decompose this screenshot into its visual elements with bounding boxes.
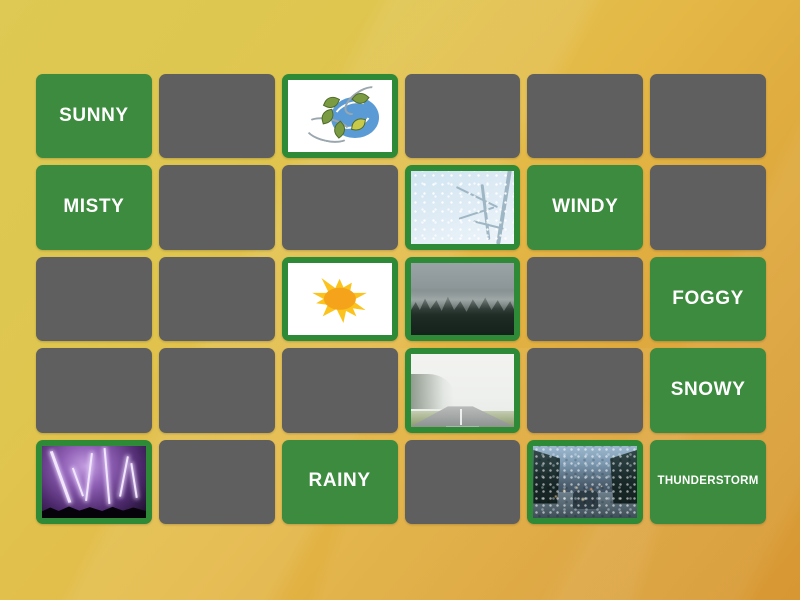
misty-forest-photo (411, 263, 515, 335)
wind-clipart (288, 80, 392, 152)
treeline (411, 374, 455, 409)
tile-image-windy-clipart[interactable] (282, 74, 398, 158)
tile-hidden-r1c4[interactable] (405, 74, 521, 158)
snowflakes (411, 171, 515, 243)
tile-label: RAINY (309, 471, 371, 492)
tile-hidden-r2c3[interactable] (282, 165, 398, 249)
tile-image-foggy-photo[interactable] (405, 348, 521, 432)
tile-label: SNOWY (671, 380, 746, 401)
lightning-bolt (85, 453, 93, 501)
tile-word-thunderstorm[interactable]: THUNDERSTORM (650, 440, 766, 524)
tile-hidden-r1c5[interactable] (527, 74, 643, 158)
tile-word-snowy[interactable]: SNOWY (650, 348, 766, 432)
tile-word-windy[interactable]: WINDY (527, 165, 643, 249)
snow-photo (411, 171, 515, 243)
rainy-street-photo (533, 446, 637, 518)
tile-image-thunderstorm-photo[interactable] (36, 440, 152, 524)
tile-hidden-r3c2[interactable] (159, 257, 275, 341)
tile-image-rainy-photo[interactable] (527, 440, 643, 524)
horizon-silhouette (42, 502, 146, 518)
tile-word-foggy[interactable]: FOGGY (650, 257, 766, 341)
lightning-bolt (104, 449, 111, 505)
tile-hidden-r2c2[interactable] (159, 165, 275, 249)
tile-label: SUNNY (59, 106, 129, 127)
tile-hidden-r4c5[interactable] (527, 348, 643, 432)
tile-label: FOGGY (672, 289, 744, 310)
tile-image-misty-photo[interactable] (405, 257, 521, 341)
lightning-bolt (119, 456, 129, 496)
tile-hidden-r4c2[interactable] (159, 348, 275, 432)
tile-hidden-r1c6[interactable] (650, 74, 766, 158)
raindrops (533, 446, 637, 518)
tile-hidden-r5c4[interactable] (405, 440, 521, 524)
tile-hidden-r3c5[interactable] (527, 257, 643, 341)
sun-clipart (288, 263, 392, 335)
tile-label: WINDY (552, 197, 618, 218)
tile-label: MISTY (63, 197, 124, 218)
lightning-bolt (131, 463, 138, 498)
tile-word-rainy[interactable]: RAINY (282, 440, 398, 524)
tile-grid: SUNNYMISTYWINDYFOGGYSNOWYRAINYTHUNDERSTO… (36, 74, 766, 524)
tile-hidden-r4c1[interactable] (36, 348, 152, 432)
tile-image-sunny-clipart[interactable] (282, 257, 398, 341)
tile-label: THUNDERSTORM (658, 475, 759, 488)
lightning-photo (42, 446, 146, 518)
foggy-road-photo (411, 354, 515, 426)
tile-hidden-r5c2[interactable] (159, 440, 275, 524)
tile-image-snowy-photo[interactable] (405, 165, 521, 249)
tile-hidden-r1c2[interactable] (159, 74, 275, 158)
tile-word-misty[interactable]: MISTY (36, 165, 152, 249)
lightning-bolt (72, 468, 84, 497)
lightning-bolt (49, 451, 70, 502)
tile-word-sunny[interactable]: SUNNY (36, 74, 152, 158)
matching-game-board: SUNNYMISTYWINDYFOGGYSNOWYRAINYTHUNDERSTO… (0, 0, 800, 600)
tile-hidden-r2c6[interactable] (650, 165, 766, 249)
tile-hidden-r4c3[interactable] (282, 348, 398, 432)
road-centerline (460, 409, 462, 425)
tile-hidden-r3c1[interactable] (36, 257, 152, 341)
